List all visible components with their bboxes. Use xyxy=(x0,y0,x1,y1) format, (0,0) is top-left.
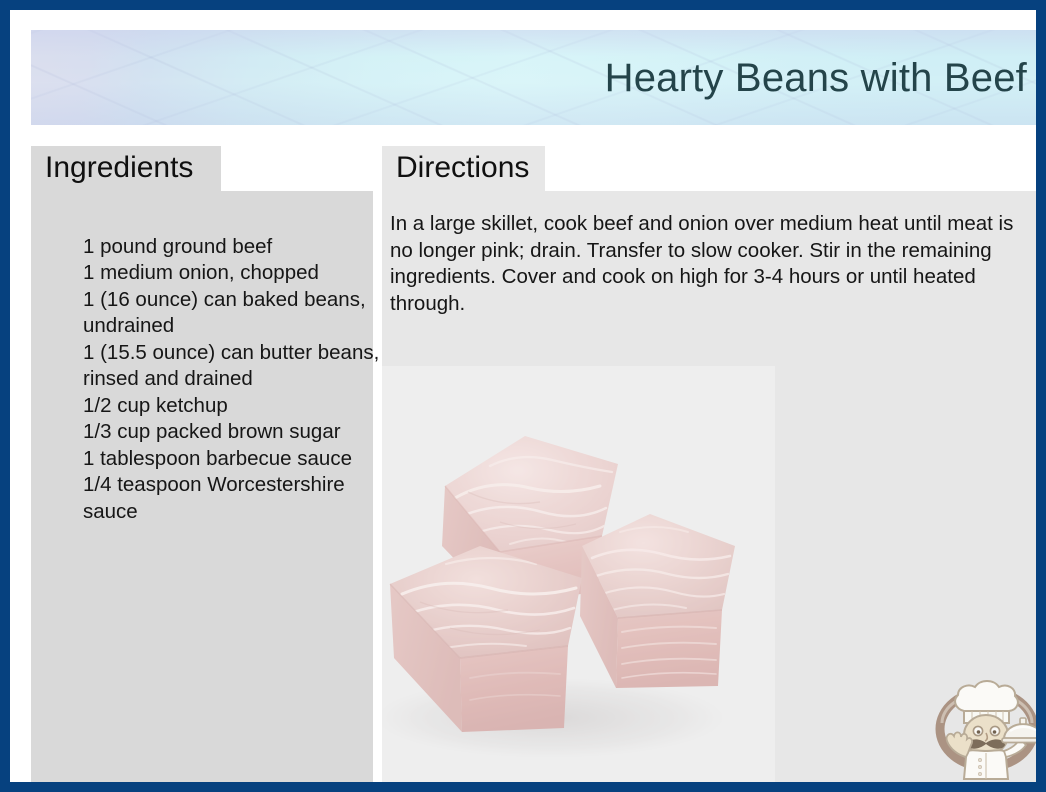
ingredients-heading: Ingredients xyxy=(31,146,221,191)
directions-heading: Directions xyxy=(382,146,545,191)
list-item: 1 tablespoon barbecue sauce xyxy=(83,446,403,473)
recipe-card: Hearty Beans with Beef Ingredients 1 pou… xyxy=(0,0,1046,792)
title-banner: Hearty Beans with Beef xyxy=(31,30,1043,125)
list-item: 1/3 cup packed brown sugar xyxy=(83,419,403,446)
card-inner: Hearty Beans with Beef Ingredients 1 pou… xyxy=(20,20,1046,792)
directions-panel: In a large skillet, cook beef and onion … xyxy=(382,191,1043,792)
beef-cubes-photo xyxy=(382,366,775,786)
list-item: 1 (16 ounce) can baked beans, undrained xyxy=(83,287,403,340)
list-item: 1 pound ground beef xyxy=(83,234,403,261)
list-item: 1/4 teaspoon Worcestershire sauce xyxy=(83,472,403,525)
list-item: 1/2 cup ketchup xyxy=(83,393,403,420)
list-item: 1 (15.5 ounce) can butter beans, rinsed … xyxy=(83,340,403,393)
ingredients-list: 1 pound ground beef 1 medium onion, chop… xyxy=(43,234,403,526)
directions-text: In a large skillet, cook beef and onion … xyxy=(390,211,1035,317)
ingredients-panel: 1 pound ground beef 1 medium onion, chop… xyxy=(31,191,373,792)
page-title: Hearty Beans with Beef xyxy=(605,57,1027,99)
list-item: 1 medium onion, chopped xyxy=(83,260,403,287)
